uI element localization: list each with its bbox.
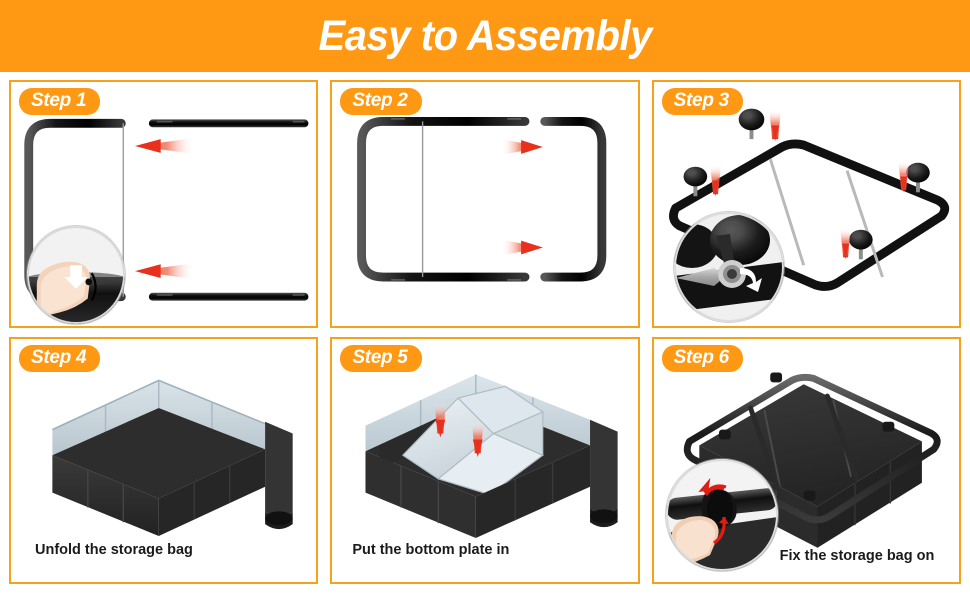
steps-grid: Step 1 [9,80,961,584]
assembly-infographic: Easy to Assembly Step 1 [0,0,970,600]
step-panel-6: Step 6 [652,337,961,585]
arrow-right-bottom [502,240,543,256]
caster-wheel-top [738,109,764,140]
arrow-right-top [502,139,543,155]
step-badge-5: Step 5 [340,345,421,372]
header-banner: Easy to Assembly [0,0,970,72]
arrow-left-bottom [135,263,194,279]
step-badge-1: Step 1 [19,88,100,115]
step-2-illustration [332,82,637,324]
step-caption-6: Fix the storage bag on [780,547,935,566]
step-badge-3: Step 3 [662,88,743,115]
step-panel-4: Step 4 [9,337,318,585]
step-6-inset-clip [666,459,778,571]
step-badge-6: Step 6 [662,345,743,372]
step-panel-1: Step 1 [9,80,318,328]
step-3-inset-wrench [674,212,784,322]
step-caption-5: Put the bottom plate in [352,541,509,560]
step-panel-5: Step 5 [330,337,639,585]
arrow-left-top [135,138,194,154]
arrow-down-top [769,110,781,142]
step-badge-2: Step 2 [340,88,421,115]
step-caption-4: Unfold the storage bag [35,541,193,560]
step-panel-3: Step 3 [652,80,961,328]
step-badge-4: Step 4 [19,345,100,372]
step-panel-2: Step 2 [330,80,639,328]
page-title: Easy to Assembly [318,12,651,61]
step-1-inset-finger-press [27,226,125,324]
